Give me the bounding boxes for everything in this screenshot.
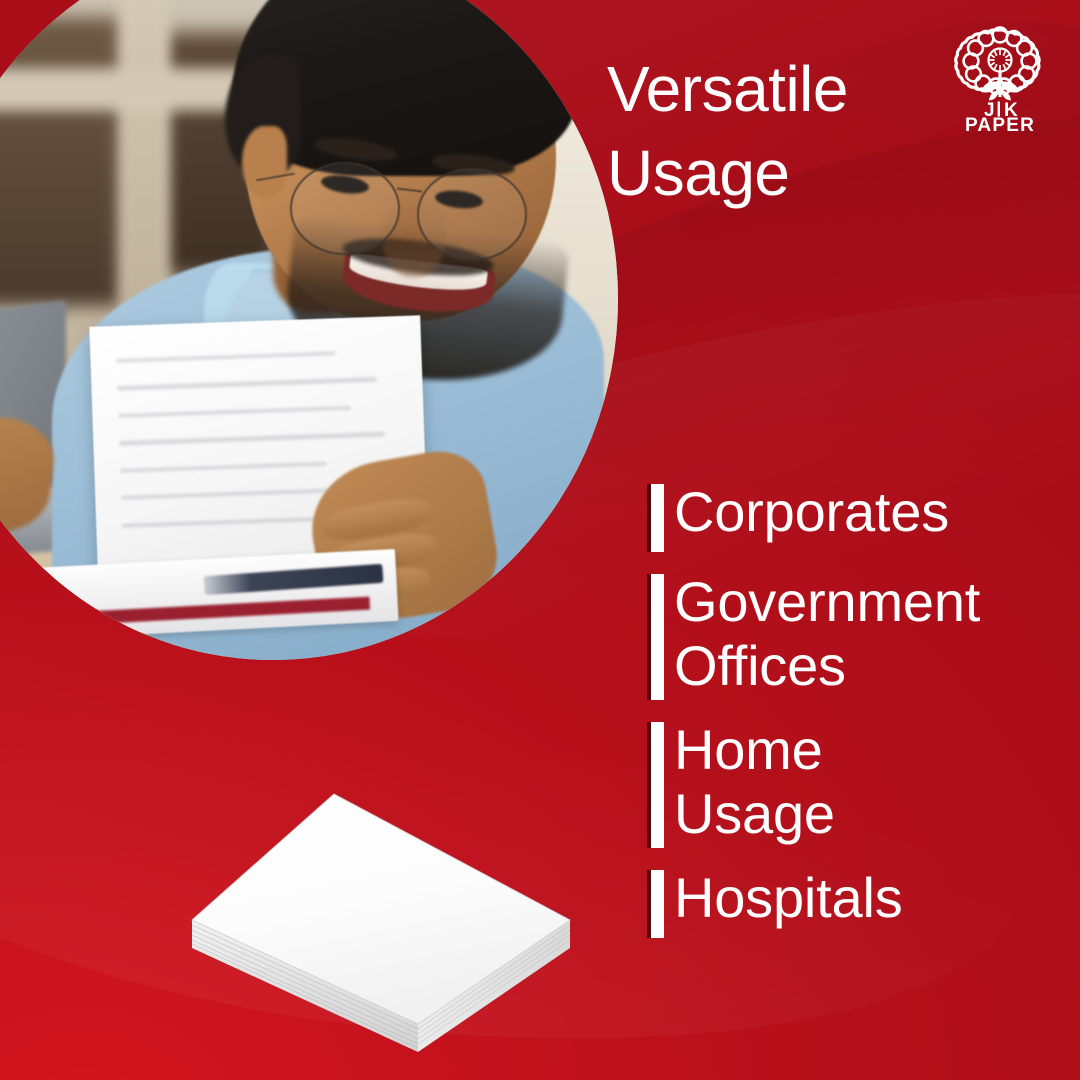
logo-wordmark-paper: PAPER <box>965 115 1035 132</box>
ream-top-sheet <box>192 794 570 1024</box>
list-item-line: Government <box>674 570 980 634</box>
list-item-line: Home <box>674 718 835 782</box>
eyeglass-lens-left <box>290 162 400 255</box>
list-item: Government Offices <box>651 574 1071 700</box>
list-item-label: Hospitals <box>674 866 903 930</box>
poster-canvas: Versatile Usage <box>0 0 1080 1080</box>
headline-line-1: Versatile <box>607 47 1007 131</box>
eyeglass-bridge <box>397 187 422 192</box>
list-item-line: Corporates <box>674 480 949 544</box>
page-title: Versatile Usage <box>607 47 1007 215</box>
list-item-line: Offices <box>674 634 980 698</box>
businessman-reading-document-photo <box>0 0 618 660</box>
list-item: Hospitals <box>651 870 1071 938</box>
list-item-label: Government Offices <box>674 570 980 698</box>
list-item: Corporates <box>651 484 1071 552</box>
jk-paper-logo: J K PAPER <box>948 22 1052 132</box>
paper-ream-image <box>170 752 600 1080</box>
list-bullet-bar <box>651 484 664 552</box>
usage-list: Corporates Government Offices Home Usage… <box>651 484 1071 938</box>
list-item-label: Corporates <box>674 480 949 544</box>
headline-line-2: Usage <box>607 131 1007 215</box>
list-bullet-bar <box>651 722 664 848</box>
list-item-label: Home Usage <box>674 718 835 846</box>
eyeglass-lens-right <box>417 168 527 261</box>
list-bullet-bar <box>651 574 664 700</box>
list-bullet-bar <box>651 870 664 938</box>
list-item: Home Usage <box>651 722 1071 848</box>
shelf-post-left <box>121 0 169 313</box>
shelf-opening-left <box>0 17 121 306</box>
man-ear <box>242 126 287 198</box>
list-item-line: Usage <box>674 782 835 846</box>
eyeglasses-icon <box>287 158 563 259</box>
list-item-line: Hospitals <box>674 866 903 930</box>
